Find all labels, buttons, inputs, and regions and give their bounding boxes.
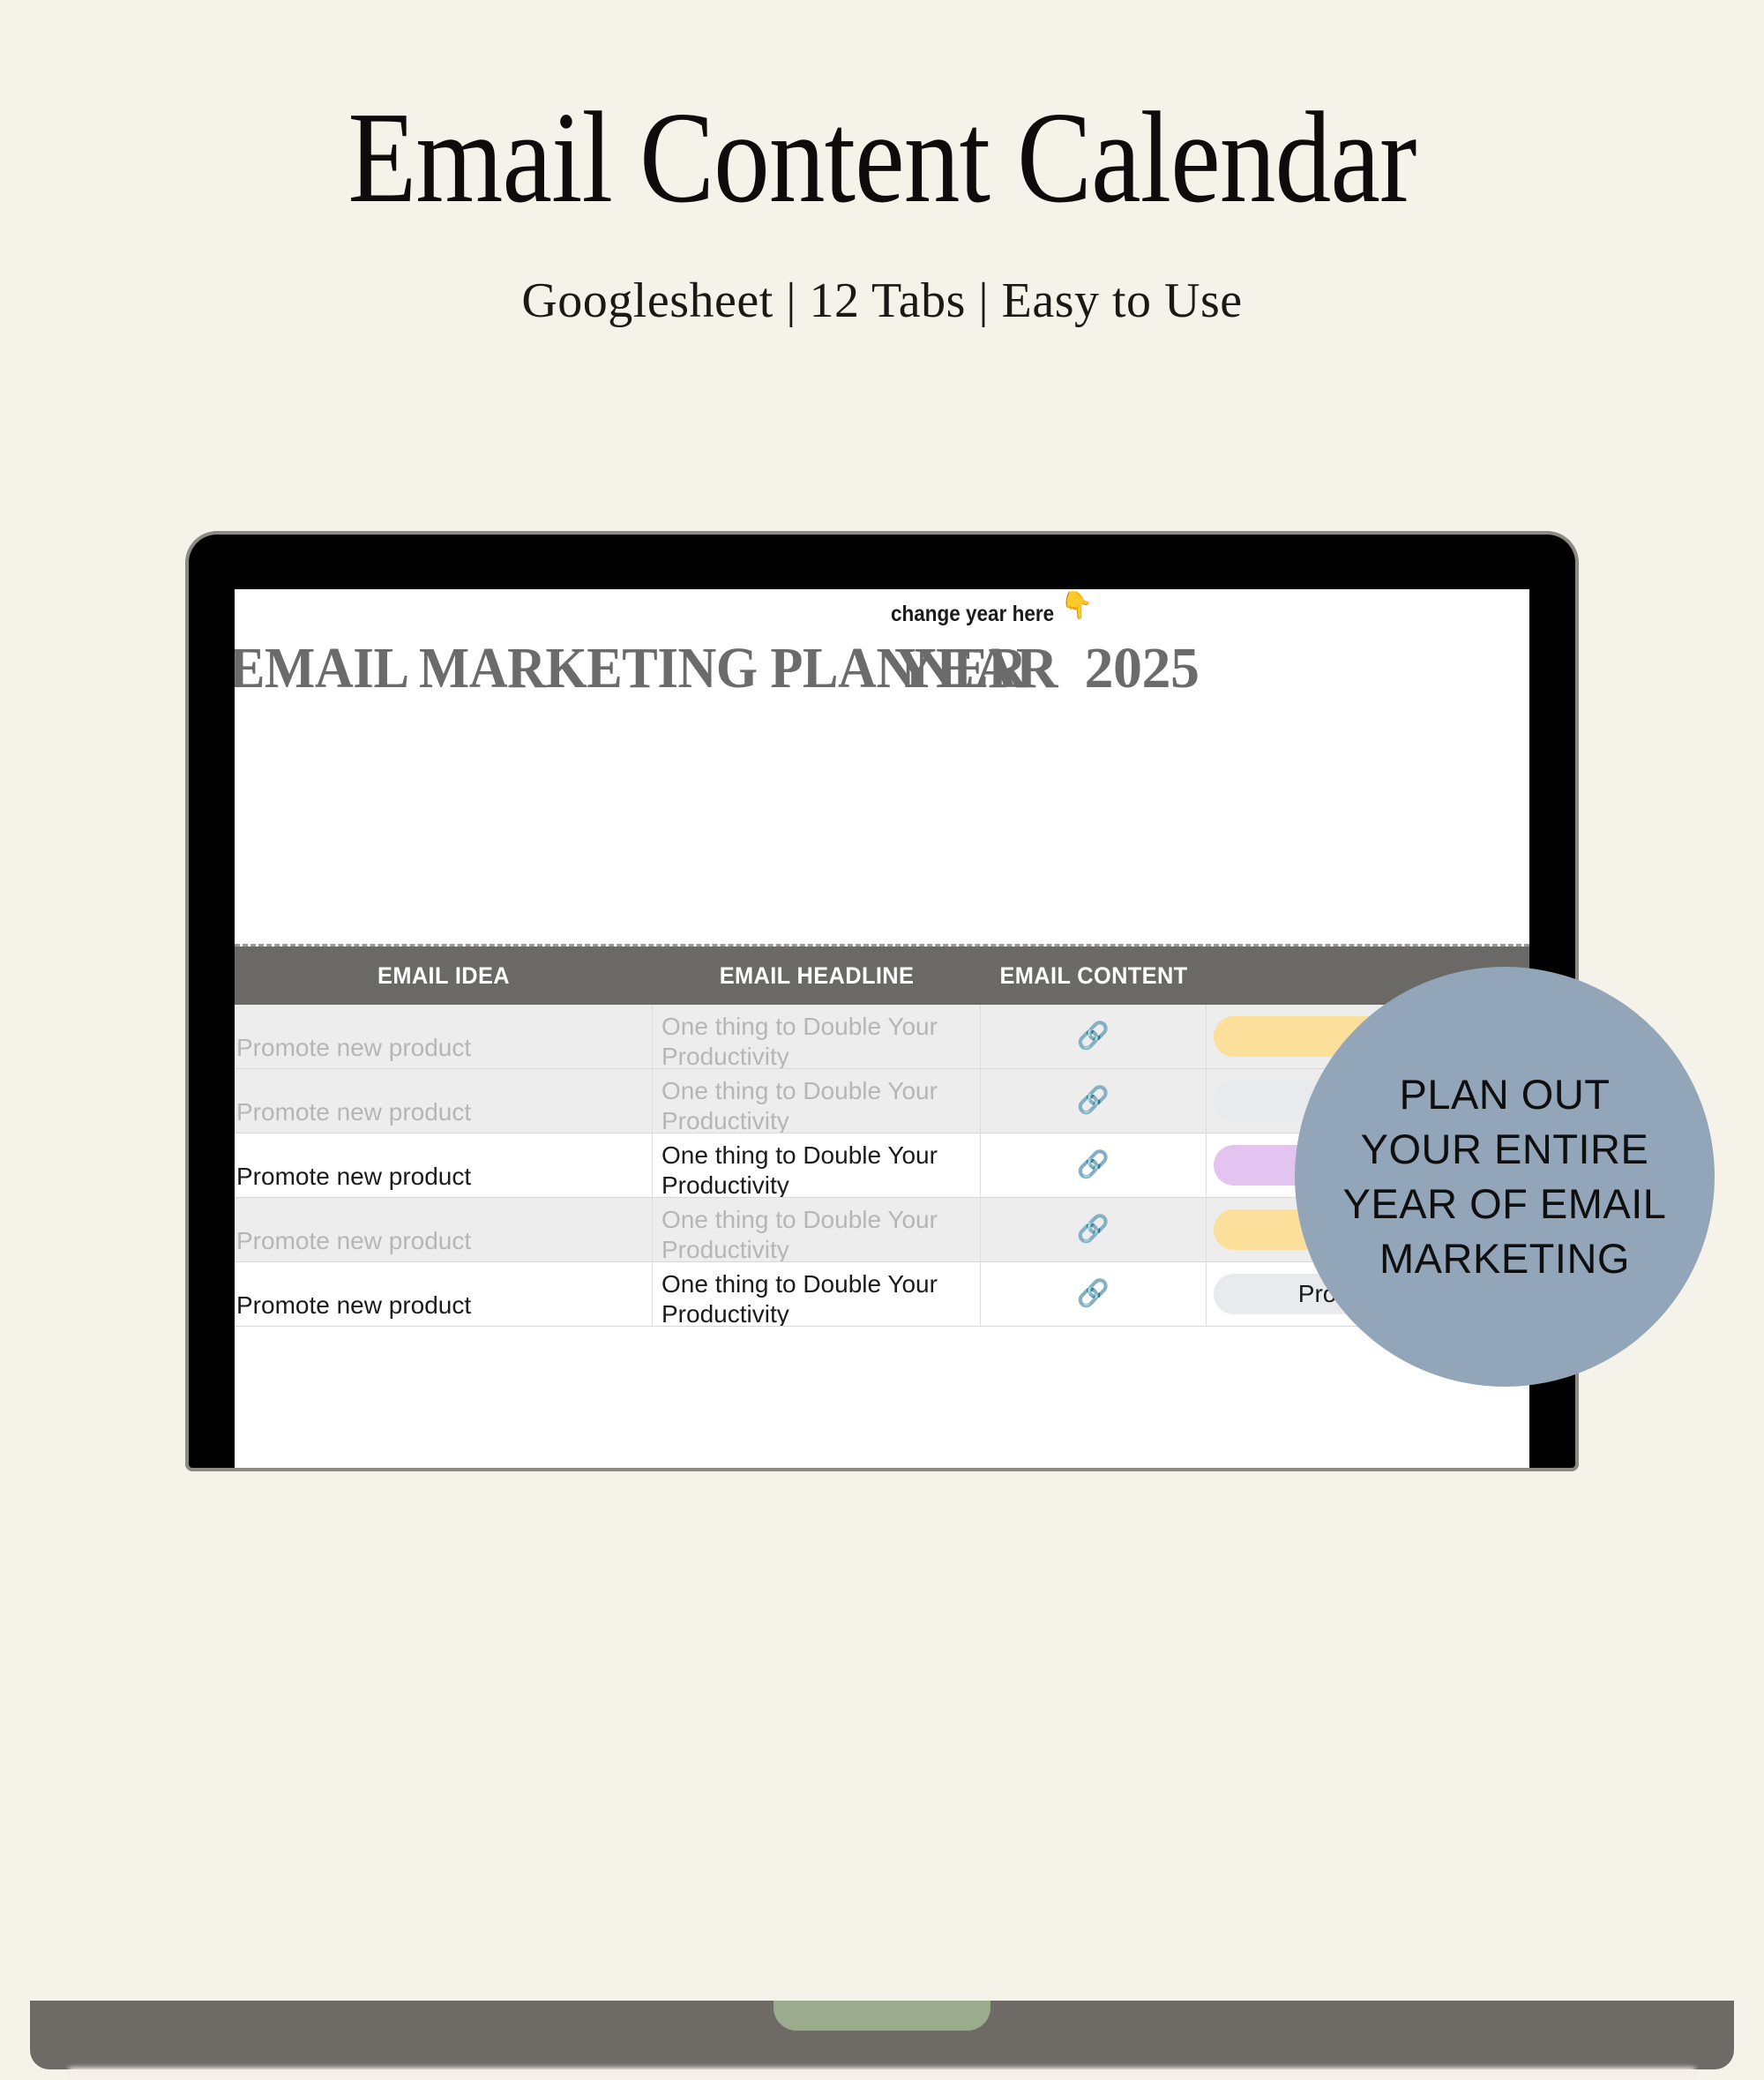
year-label: YEAR <box>894 636 1058 700</box>
link-icon[interactable]: 🔗 <box>1077 1088 1110 1114</box>
cell-email-idea[interactable]: Promote new product <box>235 1005 653 1068</box>
cell-email-idea[interactable]: Promote new product <box>235 1069 653 1133</box>
cell-email-content[interactable]: 🔗 <box>981 1134 1207 1197</box>
table-header-row: EMAIL IDEA EMAIL HEADLINE EMAIL CONTENT <box>235 946 1529 1005</box>
laptop-screen: EMAIL MARKETING PLANNER change year here… <box>235 589 1529 1468</box>
link-icon[interactable]: 🔗 <box>1077 1023 1110 1050</box>
cell-email-content[interactable]: 🔗 <box>981 1262 1207 1326</box>
year-display: YEAR 2025 <box>894 635 1199 702</box>
cell-email-idea[interactable]: Promote new product <box>235 1134 653 1197</box>
column-header-email-idea: EMAIL IDEA <box>247 962 640 990</box>
column-header-email-headline: EMAIL HEADLINE <box>662 962 971 990</box>
cell-email-idea[interactable]: Promote new product <box>235 1198 653 1261</box>
laptop-shadow <box>69 2068 1695 2080</box>
link-icon[interactable]: 🔗 <box>1077 1216 1110 1243</box>
cell-email-idea[interactable]: Promote new product <box>235 1262 653 1326</box>
cell-email-content[interactable]: 🔗 <box>981 1198 1207 1261</box>
cell-email-content[interactable]: 🔗 <box>981 1069 1207 1133</box>
cell-email-headline[interactable]: One thing to Double Your Productivity <box>653 1005 981 1068</box>
page-title: Email Content Calendar <box>123 92 1641 225</box>
pointing-down-icon: 👇 <box>1060 593 1093 619</box>
page-subtitle: Googlesheet | 12 Tabs | Easy to Use <box>0 273 1764 329</box>
spreadsheet-header-area: EMAIL MARKETING PLANNER change year here… <box>235 589 1529 944</box>
column-header-email-content: EMAIL CONTENT <box>988 962 1200 990</box>
cell-email-headline[interactable]: One thing to Double Your Productivity <box>653 1069 981 1133</box>
cell-email-headline[interactable]: One thing to Double Your Productivity <box>653 1134 981 1197</box>
change-year-note: change year here <box>891 602 1054 627</box>
cell-email-headline[interactable]: One thing to Double Your Productivity <box>653 1262 981 1326</box>
year-value[interactable]: 2025 <box>1084 636 1199 700</box>
cell-email-headline[interactable]: One thing to Double Your Productivity <box>653 1198 981 1261</box>
laptop-base-notch <box>774 2001 990 2031</box>
link-icon[interactable]: 🔗 <box>1077 1281 1110 1307</box>
hero-section: Email Content Calendar Googlesheet | 12 … <box>0 0 1764 329</box>
link-icon[interactable]: 🔗 <box>1077 1152 1110 1178</box>
promo-badge: PLAN OUT YOUR ENTIRE YEAR OF EMAIL MARKE… <box>1295 967 1715 1387</box>
promo-badge-text: PLAN OUT YOUR ENTIRE YEAR OF EMAIL MARKE… <box>1320 1067 1690 1286</box>
cell-email-content[interactable]: 🔗 <box>981 1005 1207 1068</box>
